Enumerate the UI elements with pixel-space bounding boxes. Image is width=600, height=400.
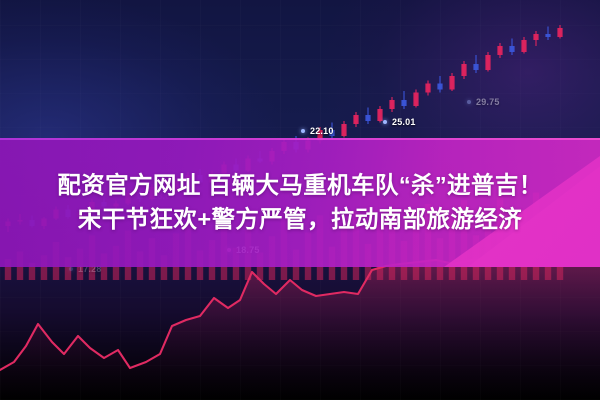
candle-body: [413, 93, 418, 107]
candle-body: [521, 40, 526, 52]
candle-body: [353, 115, 358, 124]
candle-body: [425, 84, 430, 93]
trend-area-fill: [0, 254, 600, 400]
candle-body: [485, 55, 490, 70]
headline-band: [0, 138, 600, 267]
candle-body: [449, 76, 454, 90]
candle-body: [509, 46, 514, 52]
candle-body: [377, 109, 382, 121]
candle-body: [461, 64, 466, 76]
band-top-highlight: [0, 138, 600, 140]
candle-body: [497, 46, 502, 55]
price-label: 22.10: [310, 126, 334, 136]
candle-body: [389, 100, 394, 109]
candle-body: [533, 34, 538, 40]
candle-body: [545, 34, 550, 37]
candle-body: [341, 124, 346, 136]
banner-image: 22.1025.0129.7518.0718.7517.28 配资官方网址 百辆…: [0, 0, 600, 400]
candle-body: [365, 115, 370, 121]
price-label: 29.75: [476, 97, 500, 107]
candle-body: [557, 28, 562, 37]
price-label: 25.01: [392, 117, 416, 127]
candle-body: [437, 84, 442, 90]
candle-body: [473, 64, 478, 70]
candle-body: [401, 100, 406, 106]
